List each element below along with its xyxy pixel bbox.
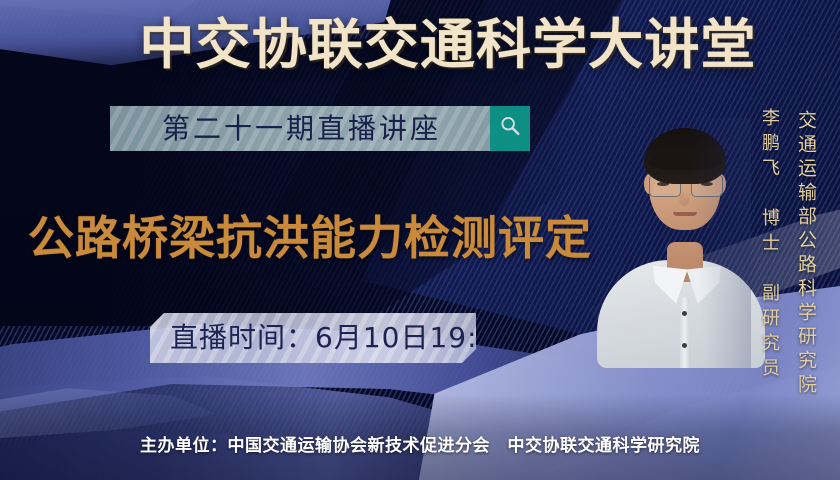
broadcast-time-label: 直播时间：6月10日19:30 [170,321,476,355]
poster-canvas: 交通运输部公路科学研究院 李鹏飞 博士 副研究员 中交协联交通科学大讲堂 第二十… [0,0,840,480]
portrait-shirt-button-2 [682,343,687,348]
episode-banner: 第二十一期直播讲座 [110,106,530,151]
speaker-portrait [611,118,751,368]
broadcast-time-chip: 直播时间：6月10日19:30 [150,313,476,363]
organizer-line: 主办单位：中国交通运输协会新技术促进分会 中交协联交通科学研究院 [0,431,840,456]
speaker-name: 李鹏飞 博士 副研究员 [756,108,782,346]
speaker-organization: 交通运输部公路科学研究院 [793,110,820,355]
portrait-shirt-button-1 [682,311,687,316]
search-icon [499,115,521,137]
episode-label: 第二十一期直播讲座 [162,113,441,145]
portrait-shirt-placket [680,298,689,368]
lecture-topic-title: 公路桥梁抗洪能力检测评定 [28,210,592,266]
page-title: 中交协联交通科学大讲堂 [139,14,712,76]
search-button[interactable] [490,106,530,151]
portrait-mouth [673,212,697,216]
